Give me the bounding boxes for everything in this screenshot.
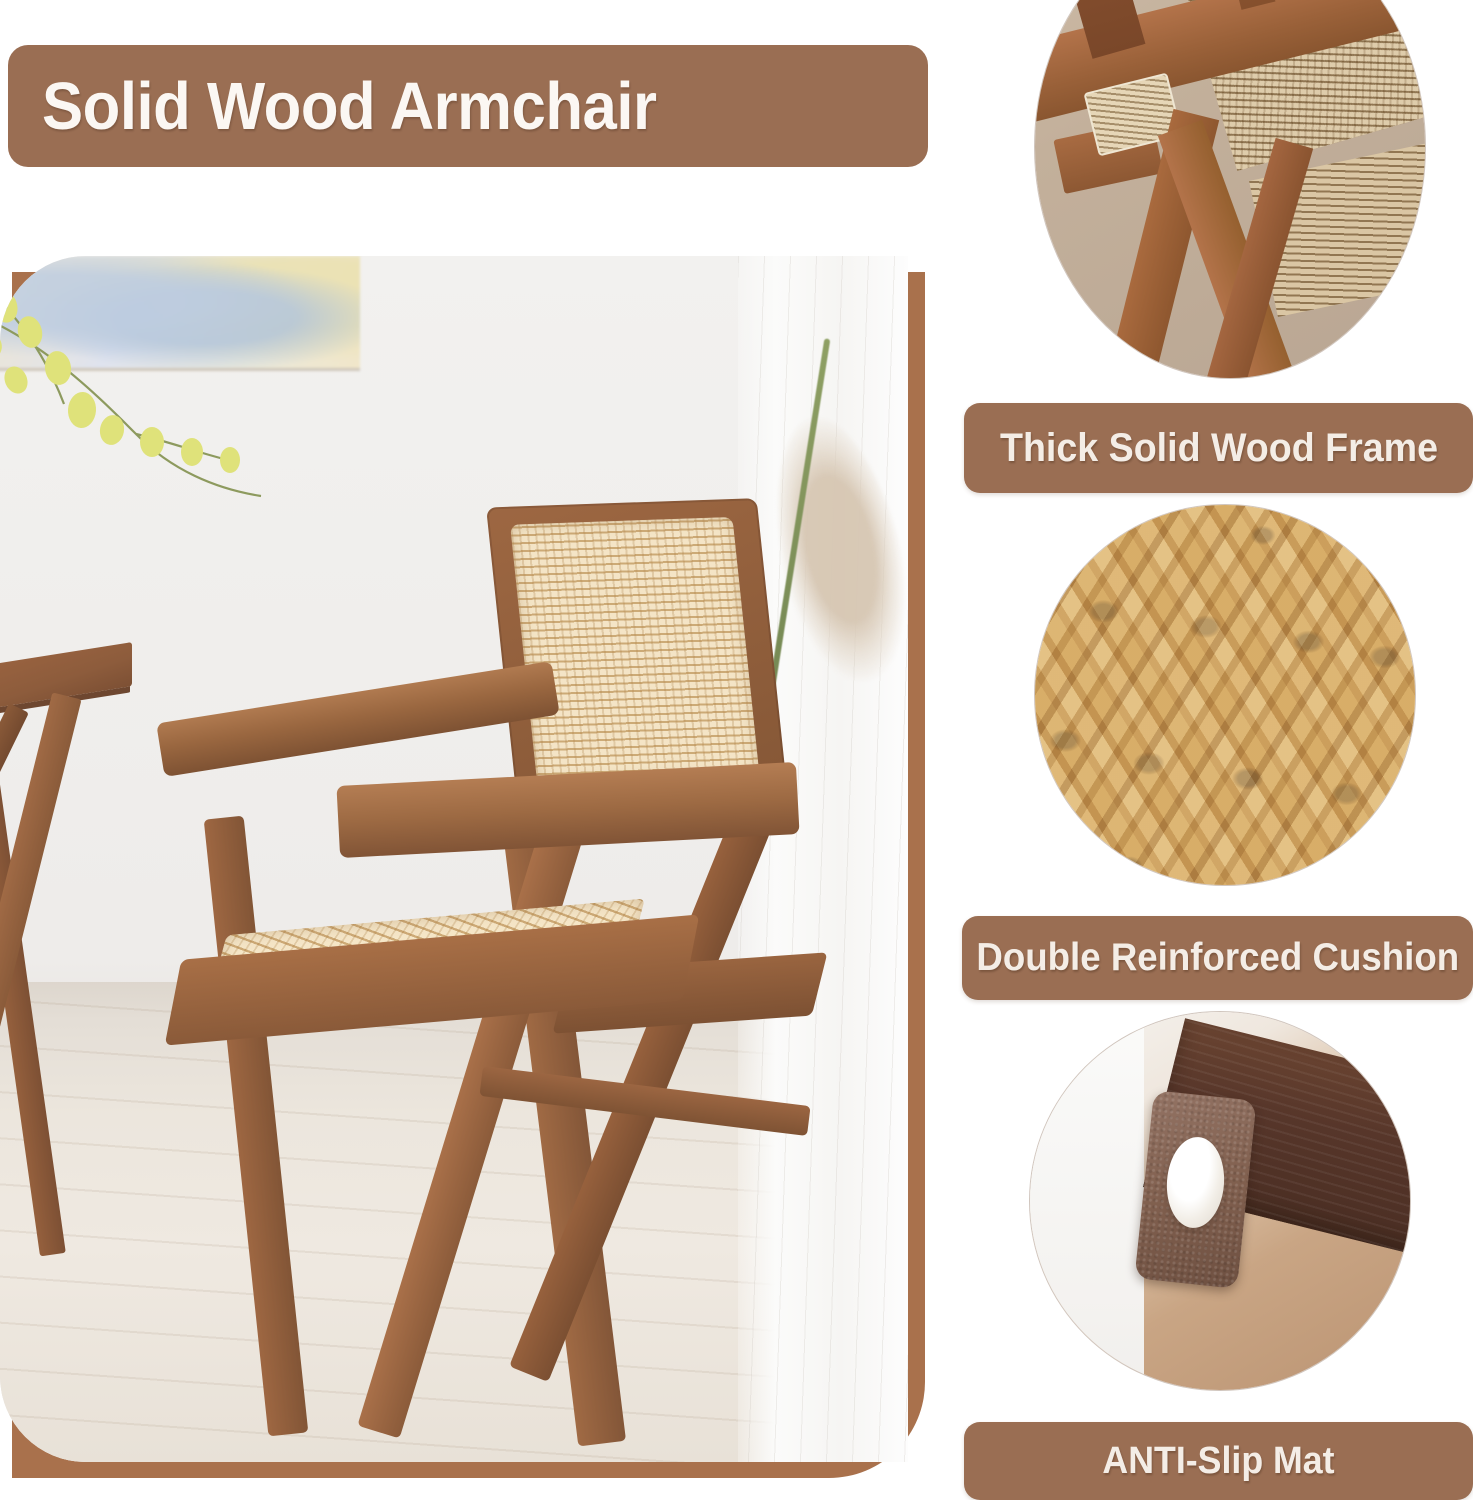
wood-frame-detail-photo — [1035, 0, 1425, 378]
backrest-rattan-panel — [510, 517, 760, 783]
chair-armrest-left — [156, 661, 560, 777]
feature-label-anti-slip: ANTI-Slip Mat — [964, 1422, 1473, 1500]
background-wall — [1030, 1012, 1144, 1390]
chair-backrest-frame — [486, 498, 788, 806]
feature-column: Thick Solid Wood Frame Double Reinforced… — [930, 0, 1473, 1500]
feature-label-wood-frame: Thick Solid Wood Frame — [964, 403, 1473, 493]
feature-label-text: Thick Solid Wood Frame — [999, 426, 1437, 471]
feature-label-text: ANTI-Slip Mat — [1102, 1440, 1334, 1483]
anti-slip-mat-detail-photo — [1030, 1012, 1410, 1390]
cane-webbing-openings — [1035, 505, 1415, 885]
feature-label-text: Double Reinforced Cushion — [976, 936, 1459, 980]
feature-label-cushion: Double Reinforced Cushion — [962, 916, 1473, 1000]
main-product-photo-wrapper — [0, 256, 925, 1478]
chair-leg-front-left — [204, 816, 309, 1437]
armchair — [150, 486, 870, 1446]
product-feature-infographic: Solid Wood Armchair — [0, 0, 1473, 1500]
rattan-weave-detail-photo — [1035, 505, 1415, 885]
page-title: Solid Wood Armchair — [42, 68, 657, 145]
main-product-photo — [0, 256, 908, 1462]
page-title-banner: Solid Wood Armchair — [8, 45, 928, 167]
side-table — [0, 656, 166, 1376]
